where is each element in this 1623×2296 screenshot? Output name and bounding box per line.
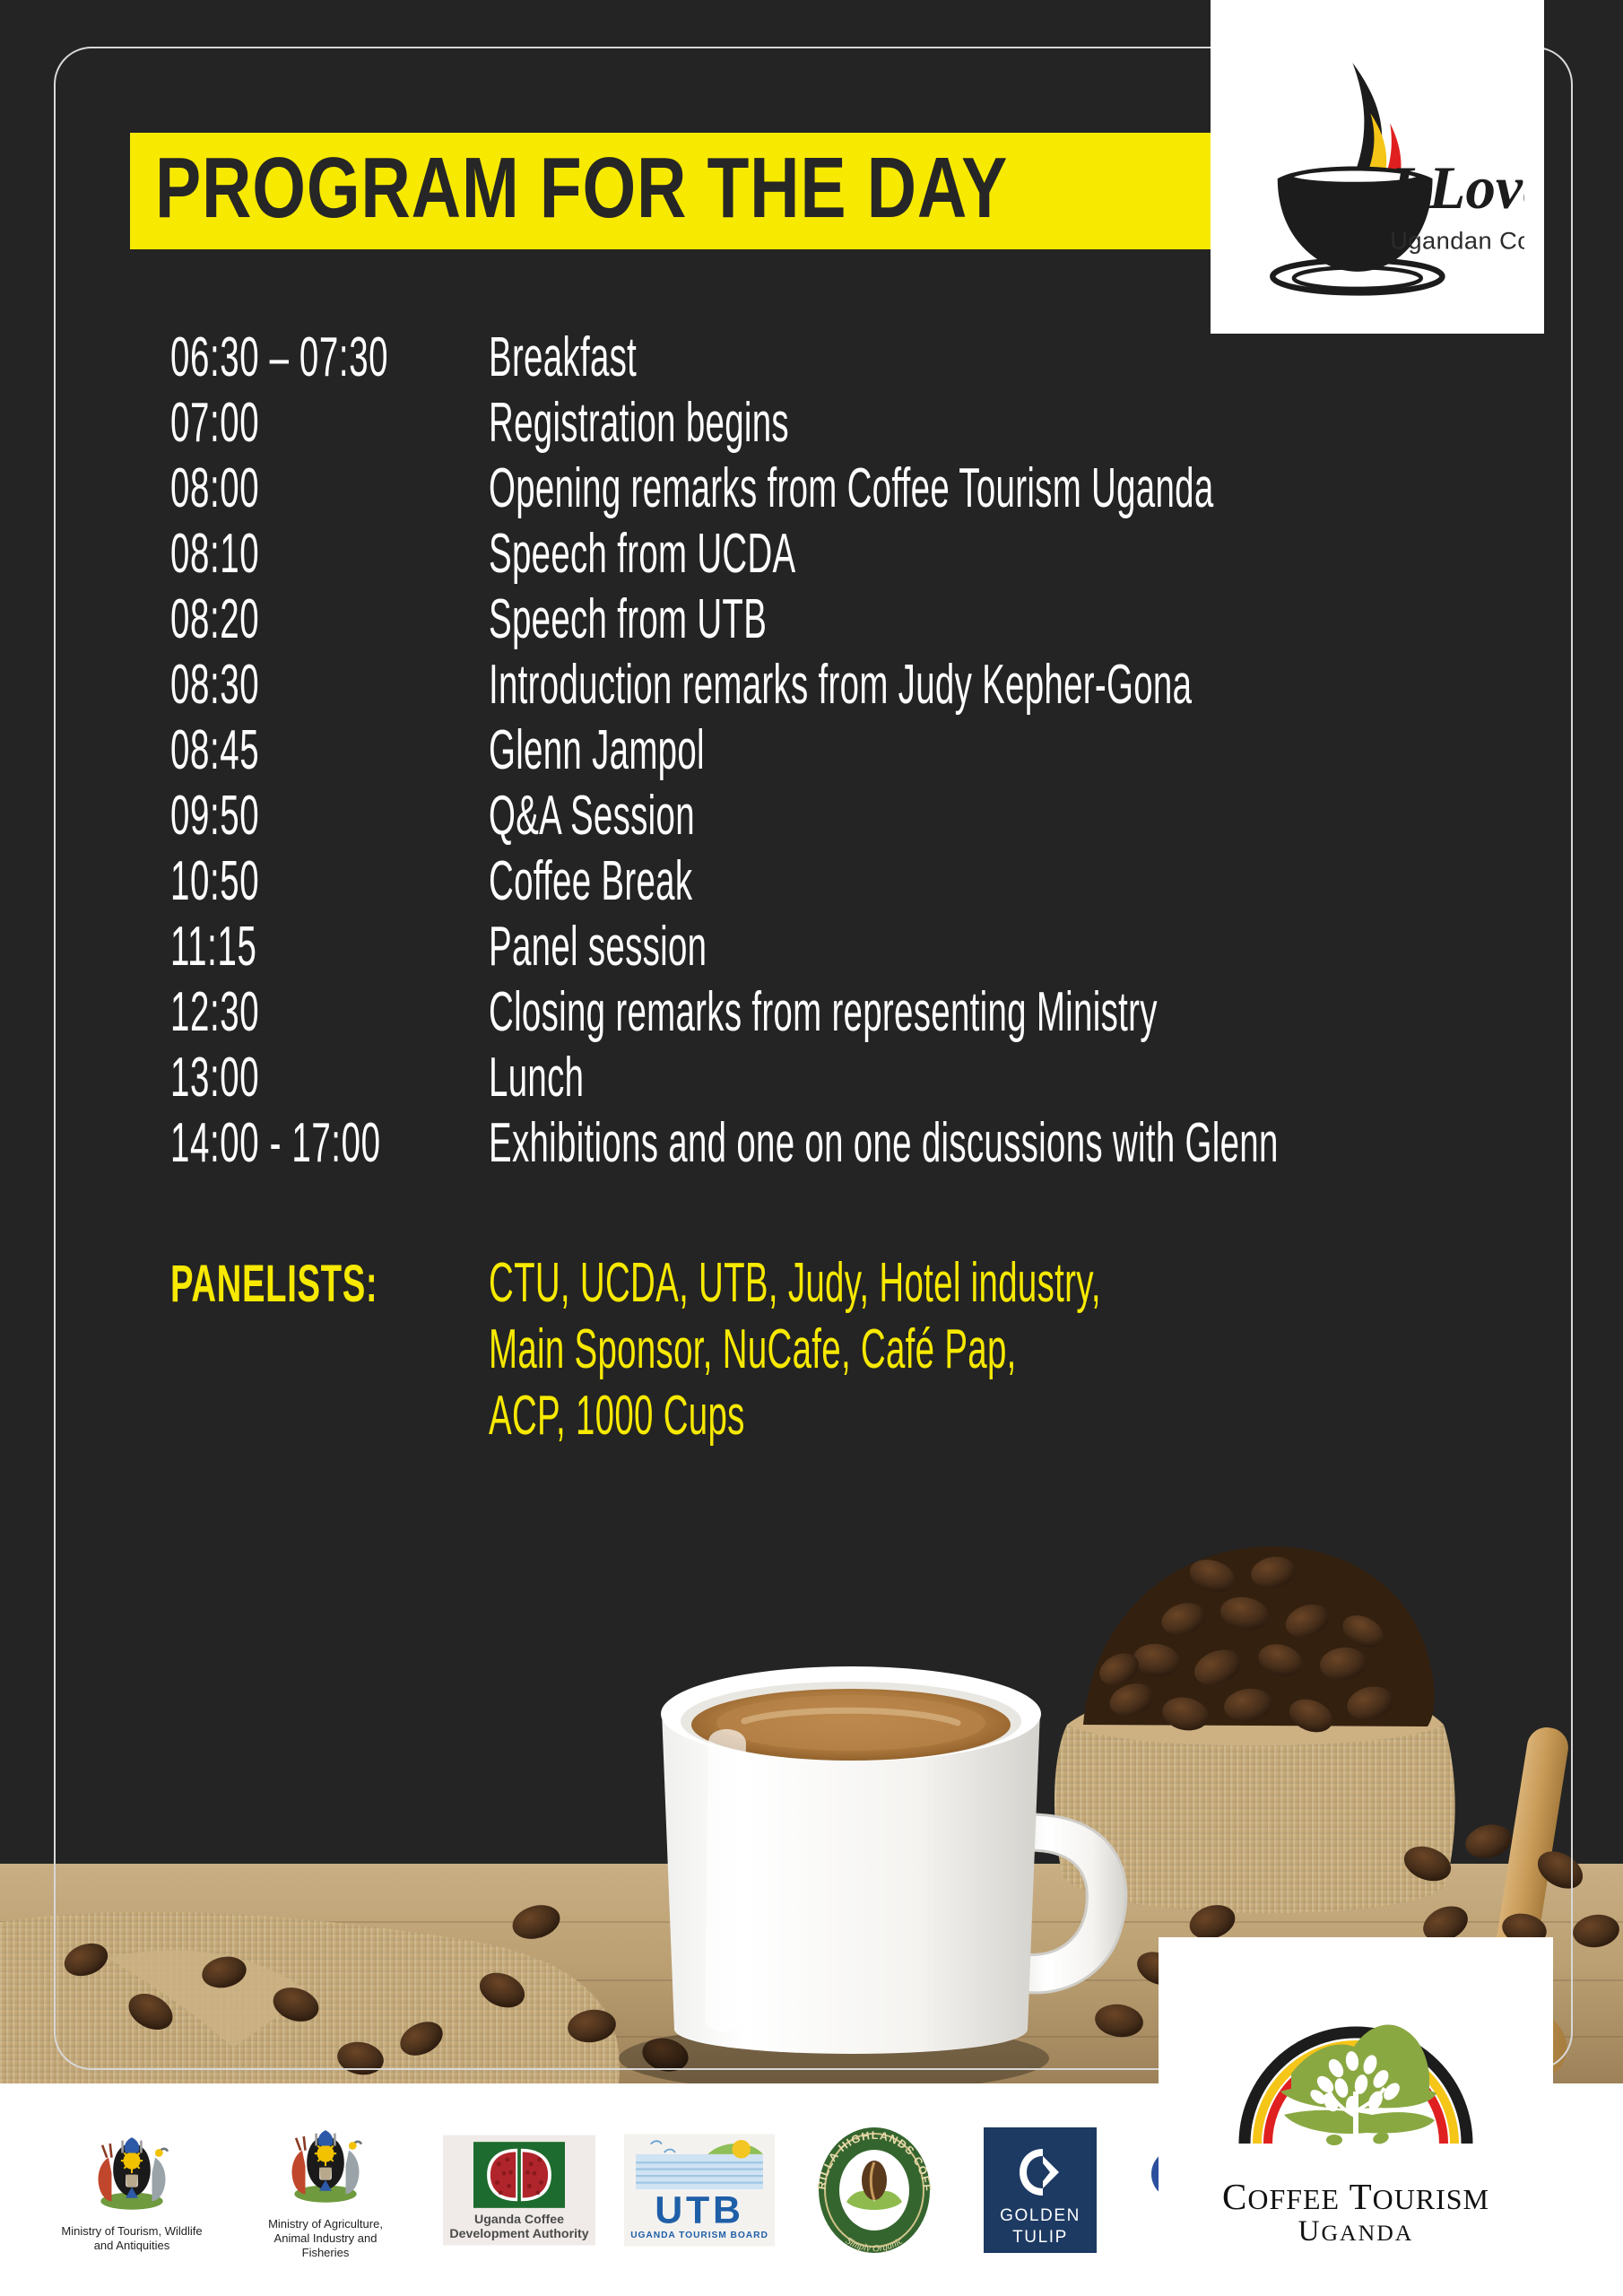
panelists-list: CTU, UCDA, UTB, Judy, Hotel industry, Ma…: [489, 1256, 1476, 1455]
schedule-desc: Exhibitions and one on one discussions w…: [489, 1116, 1279, 1171]
ctu-logo-line1: COFFEE TOURISM: [1222, 2179, 1489, 2216]
schedule-desc: Registration begins: [489, 396, 1098, 451]
poster-canvas: I Love Ugandan Coffee PROGRAM FOR THE DA…: [0, 0, 1623, 2296]
partner-logo-gorilla-highlands-coffee: GORILLA HIGHLANDS COFFEE Simply Organic: [803, 2123, 945, 2257]
schedule-desc: Introduction remarks from Judy Kepher-Go…: [489, 657, 1192, 713]
partner-logo-ministry-of-tourism: Ministry of Tourism, Wildlifeand Antiqui…: [47, 2126, 217, 2254]
schedule-time: 10:50: [170, 854, 368, 909]
panelists-section: PANELISTS: CTU, UCDA, UTB, Judy, Hotel i…: [170, 1256, 1471, 1455]
schedule-time: 08:45: [170, 723, 368, 778]
schedule-desc: Breakfast: [489, 330, 1098, 386]
schedule-time: 07:00: [170, 396, 368, 451]
golden-tulip-logo-icon: GOLDEN TULIP: [984, 2127, 1097, 2253]
logo-line2: Ugandan Coffee: [1391, 226, 1524, 254]
partner-logo-golden-tulip: GOLDEN TULIP: [974, 2127, 1107, 2253]
page-title: PROGRAM FOR THE DAY: [155, 147, 1008, 230]
schedule-row: 08:00 Opening remarks from Coffee Touris…: [170, 461, 1471, 526]
svg-text:GOLDEN: GOLDEN: [1000, 2206, 1081, 2225]
gorilla-highlands-coffee-logo-icon: GORILLA HIGHLANDS COFFEE Simply Organic: [807, 2123, 942, 2257]
schedule-desc: Coffee Break: [489, 854, 1098, 909]
schedule-time: 08:00: [170, 461, 368, 517]
schedule-row: 08:10 Speech from UCDA: [170, 526, 1471, 592]
schedule-row: 10:50 Coffee Break: [170, 854, 1471, 919]
partner-caption: Ministry of Agriculture,Animal Industry …: [254, 2217, 397, 2261]
panelists-label: PANELISTS:: [170, 1258, 380, 1310]
svg-text:TULIP: TULIP: [1012, 2228, 1068, 2247]
svg-text:UTB: UTB: [655, 2188, 743, 2231]
partner-logo-ministry-of-agriculture: Ministry of Agriculture,Animal Industry …: [231, 2119, 420, 2261]
schedule-row: 07:00 Registration begins: [170, 396, 1471, 461]
schedule-row: 06:30 – 07:30 Breakfast: [170, 330, 1471, 396]
schedule-time: 06:30 – 07:30: [170, 330, 368, 386]
schedule-desc: Speech from UCDA: [489, 526, 1098, 582]
ucda-logo-icon: Uganda Coffee Development Authority: [443, 2135, 595, 2246]
schedule-time: 08:30: [170, 657, 368, 713]
coffee-tourism-uganda-mark: [1221, 1957, 1490, 2177]
schedule-desc: Q&A Session: [489, 788, 1098, 844]
uganda-coat-of-arms-icon: [279, 2119, 372, 2213]
schedule-time: 09:50: [170, 788, 368, 844]
schedule-desc: Glenn Jampol: [489, 723, 1098, 778]
panelists-line: Main Sponsor, NuCafe, Café Pap,: [489, 1322, 1101, 1388]
utb-logo-icon: UTB UGANDA TOURISM BOARD: [624, 2133, 775, 2248]
schedule-row: 08:30 Introduction remarks from Judy Kep…: [170, 657, 1471, 723]
schedule-row: 08:45 Glenn Jampol: [170, 723, 1471, 788]
schedule-desc: Opening remarks from Coffee Tourism Ugan…: [489, 461, 1214, 517]
schedule-list: 06:30 – 07:30 Breakfast 07:00 Registrati…: [170, 330, 1471, 1181]
partner-logo-ucda: Uganda Coffee Development Authority: [439, 2135, 599, 2246]
svg-text:UGANDA TOURISM BOARD: UGANDA TOURISM BOARD: [630, 2231, 768, 2240]
schedule-desc: Speech from UTB: [489, 592, 1098, 648]
panelists-line: CTU, UCDA, UTB, Judy, Hotel industry,: [489, 1256, 1101, 1322]
coffee-tourism-uganda-logo: COFFEE TOURISM UGANDA: [1159, 1937, 1553, 2296]
schedule-row: 11:15 Panel session: [170, 919, 1471, 985]
schedule-time: 08:20: [170, 592, 368, 648]
schedule-time: 11:15: [170, 919, 368, 975]
schedule-row: 13:00 Lunch: [170, 1050, 1471, 1116]
svg-text:Uganda Coffee: Uganda Coffee: [474, 2212, 564, 2226]
schedule-time: 13:00: [170, 1050, 368, 1106]
i-love-ugandan-coffee-mark: I Love Ugandan Coffee: [1230, 40, 1523, 300]
schedule-row: 12:30 Closing remarks from representing …: [170, 985, 1471, 1050]
ctu-logo-line2: UGANDA: [1298, 2216, 1414, 2248]
schedule-desc: Closing remarks from representing Minist…: [489, 985, 1158, 1040]
schedule-time: 08:10: [170, 526, 368, 582]
schedule-row: 14:00 - 17:00 Exhibitions and one on one…: [170, 1116, 1471, 1181]
title-banner: PROGRAM FOR THE DAY: [130, 133, 1245, 249]
logo-line1: I Love: [1390, 154, 1524, 222]
schedule-time: 14:00 - 17:00: [170, 1116, 368, 1171]
partner-logo-utb: UTB UGANDA TOURISM BOARD: [622, 2133, 777, 2248]
partner-caption: Ministry of Tourism, Wildlifeand Antiqui…: [61, 2224, 202, 2254]
uganda-coat-of-arms-icon: [85, 2126, 178, 2220]
schedule-time: 12:30: [170, 985, 368, 1040]
schedule-row: 08:20 Speech from UTB: [170, 592, 1471, 657]
i-love-ugandan-coffee-logo: I Love Ugandan Coffee: [1211, 0, 1544, 334]
schedule-row: 09:50 Q&A Session: [170, 788, 1471, 854]
svg-text:Development Authority: Development Authority: [449, 2226, 588, 2240]
panelists-line: ACP, 1000 Cups: [489, 1388, 1101, 1455]
schedule-desc: Panel session: [489, 919, 1098, 975]
schedule-desc: Lunch: [489, 1050, 1098, 1106]
